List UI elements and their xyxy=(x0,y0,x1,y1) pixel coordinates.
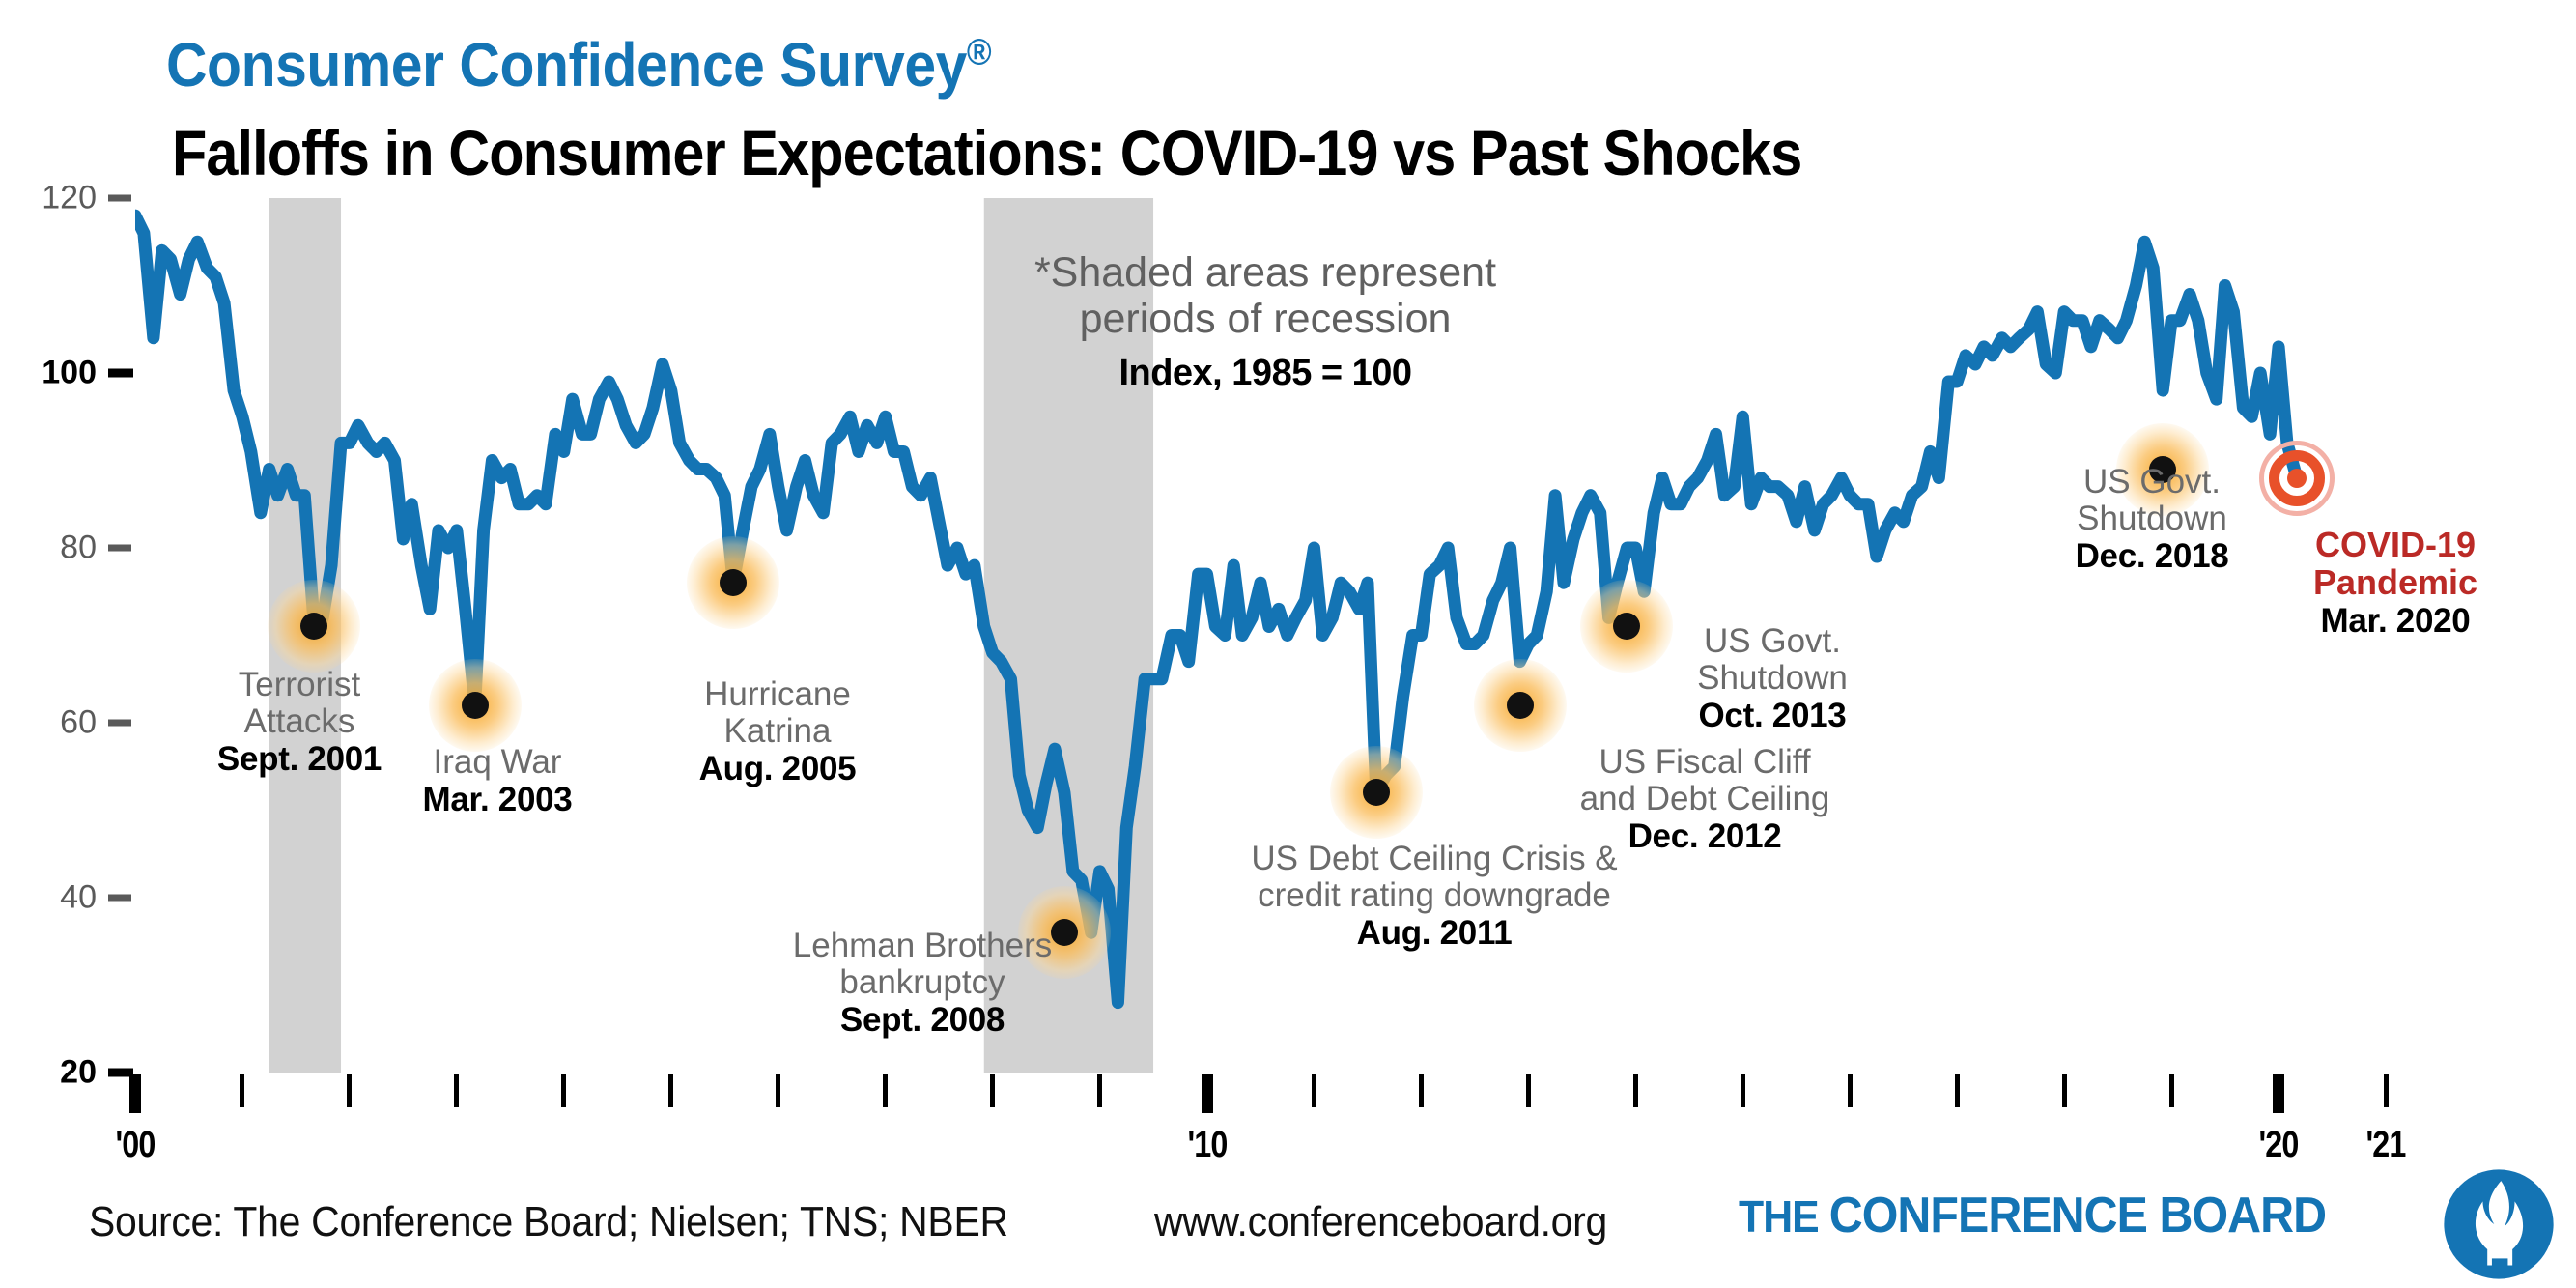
chart-canvas: Consumer Confidence Survey® Falloffs in … xyxy=(0,0,2576,1288)
event-label-hurricane-katrina: HurricaneKatrinaAug. 2005 xyxy=(699,676,857,788)
y-axis-tick-mark xyxy=(108,195,131,202)
event-date: Mar. 2020 xyxy=(2313,602,2477,641)
event-name-line: US Govt. xyxy=(1697,623,1848,660)
marker-dot-icon xyxy=(1051,919,1078,946)
event-date: Aug. 2011 xyxy=(1251,914,1617,953)
event-date: Sept. 2001 xyxy=(217,740,382,779)
event-name-line: US Govt. xyxy=(2076,464,2229,501)
page-subtitle: Falloffs in Consumer Expectations: COVID… xyxy=(172,116,1801,189)
x-axis-tick-mark xyxy=(454,1074,459,1107)
conference-board-torch-icon xyxy=(2442,1167,2556,1281)
event-name-line: Terrorist xyxy=(217,667,382,703)
y-axis-tick-mark xyxy=(108,545,131,552)
x-axis-tick-mark xyxy=(1955,1074,1960,1107)
x-axis-tick-mark xyxy=(1741,1074,1745,1107)
x-axis-tick-mark xyxy=(990,1074,995,1107)
event-label-covid-19-pandemic: COVID-19PandemicMar. 2020 xyxy=(2313,527,2477,641)
x-axis-tick-mark xyxy=(1526,1074,1531,1107)
y-axis-tick-label: 40 xyxy=(10,879,97,917)
event-name-line: bankruptcy xyxy=(793,964,1052,1001)
x-axis-tick-mark xyxy=(883,1074,888,1107)
y-axis-tick-mark xyxy=(108,369,133,378)
y-axis-tick-label: 100 xyxy=(10,355,97,392)
event-label-lehman-brothers: Lehman BrothersbankruptcySept. 2008 xyxy=(793,928,1052,1040)
x-axis-tick-label: '10 xyxy=(1187,1125,1227,1166)
index-note: Index, 1985 = 100 xyxy=(966,353,1565,394)
x-axis-tick-label: '20 xyxy=(2259,1125,2299,1166)
x-axis-tick-mark xyxy=(2384,1074,2389,1107)
y-axis-tick-mark xyxy=(108,720,131,727)
recession-note: *Shaded areas represent periods of reces… xyxy=(966,249,1565,342)
x-axis-tick-mark xyxy=(1848,1074,1853,1107)
event-date: Oct. 2013 xyxy=(1697,697,1848,735)
event-name-line: Iraq War xyxy=(423,744,573,781)
registered-trademark-icon: ® xyxy=(967,33,991,73)
event-name-line: credit rating downgrade xyxy=(1251,877,1617,914)
event-name-line: and Debt Ceiling xyxy=(1580,781,1830,817)
event-label-us-debt-ceiling-crisis: US Debt Ceiling Crisis &credit rating do… xyxy=(1251,841,1617,953)
website-url[interactable]: www.conferenceboard.org xyxy=(1154,1198,1607,1246)
marker-dot-icon xyxy=(1613,613,1640,640)
event-name-line: US Debt Ceiling Crisis & xyxy=(1251,841,1617,877)
x-axis-tick-mark xyxy=(129,1074,141,1113)
marker-dot-icon xyxy=(462,692,489,719)
event-name-line: Lehman Brothers xyxy=(793,928,1052,964)
x-axis-tick-mark xyxy=(2062,1074,2067,1107)
event-name-line: Shutdown xyxy=(2076,501,2229,537)
event-date: Aug. 2005 xyxy=(699,750,857,788)
source-note: Source: The Conference Board; Nielsen; T… xyxy=(89,1198,1008,1246)
x-axis-tick-mark xyxy=(1419,1074,1424,1107)
x-axis-tick-mark xyxy=(1633,1074,1638,1107)
event-date: Sept. 2008 xyxy=(793,1001,1052,1040)
event-label-us-fiscal-cliff: US Fiscal Cliffand Debt CeilingDec. 2012 xyxy=(1580,744,1830,856)
marker-dot-icon xyxy=(1507,692,1534,719)
event-name-line: Pandemic xyxy=(2313,564,2477,602)
target-inner-icon xyxy=(2287,469,2307,488)
event-name-line: Katrina xyxy=(699,713,857,750)
x-axis-tick-mark xyxy=(776,1074,780,1107)
event-date: Mar. 2003 xyxy=(423,781,573,819)
logo-name: CONFERENCE BOARD xyxy=(1829,1188,2326,1244)
x-axis-tick-label: '21 xyxy=(2365,1125,2405,1166)
y-axis-tick-mark xyxy=(108,895,131,902)
page-title: Consumer Confidence Survey® xyxy=(166,29,991,100)
x-axis-tick-mark xyxy=(2273,1074,2284,1113)
page-title-text: Consumer Confidence Survey xyxy=(166,30,967,100)
x-axis-tick-mark xyxy=(1312,1074,1316,1107)
event-name-line: US Fiscal Cliff xyxy=(1580,744,1830,781)
x-axis-tick-mark xyxy=(347,1074,352,1107)
marker-dot-icon xyxy=(1363,779,1390,806)
x-axis-tick-mark xyxy=(668,1074,673,1107)
x-axis-tick-label: '00 xyxy=(115,1125,155,1166)
event-label-us-govt-shutdown-2018: US Govt.ShutdownDec. 2018 xyxy=(2076,464,2229,576)
event-label-terrorist-attacks: TerroristAttacksSept. 2001 xyxy=(217,667,382,779)
event-name-line: Shutdown xyxy=(1697,660,1848,697)
logo-the: THE xyxy=(1739,1191,1829,1242)
y-axis-tick-label: 120 xyxy=(10,180,97,217)
x-axis-tick-mark xyxy=(561,1074,566,1107)
x-axis-tick-mark xyxy=(1097,1074,1102,1107)
marker-dot-icon xyxy=(300,613,327,640)
event-label-us-govt-shutdown-2013: US Govt.ShutdownOct. 2013 xyxy=(1697,623,1848,735)
x-axis-tick-mark xyxy=(240,1074,244,1107)
marker-dot-icon xyxy=(720,569,747,596)
event-label-iraq-war: Iraq WarMar. 2003 xyxy=(423,744,573,819)
event-name-line: Hurricane xyxy=(699,676,857,713)
event-name-line: COVID-19 xyxy=(2313,527,2477,564)
event-date: Dec. 2012 xyxy=(1580,817,1830,856)
x-axis-tick-mark xyxy=(2169,1074,2174,1107)
y-axis-tick-label: 20 xyxy=(10,1054,97,1092)
y-axis-tick-label: 80 xyxy=(10,530,97,567)
conference-board-logo: THE CONFERENCE BOARD xyxy=(1739,1187,2326,1245)
event-name-line: Attacks xyxy=(217,703,382,740)
event-date: Dec. 2018 xyxy=(2076,537,2229,576)
x-axis-tick-mark xyxy=(1202,1074,1213,1113)
y-axis-tick-label: 60 xyxy=(10,704,97,742)
